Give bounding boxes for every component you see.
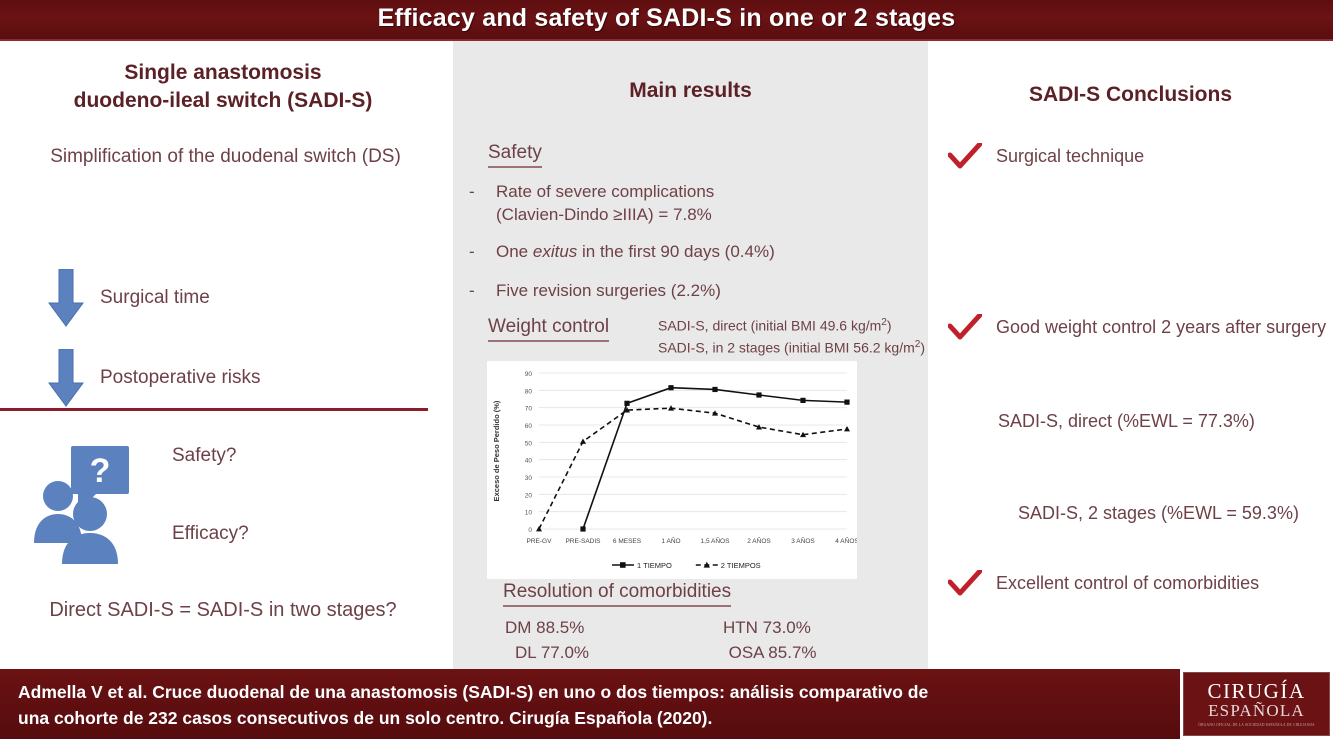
left-column: Single anastomosis duodeno-ileal switch … <box>0 41 453 669</box>
journal-logo-line2: ESPAÑOLA <box>1208 702 1305 721</box>
middle-column: Main results Safety - Rate of severe com… <box>453 41 928 669</box>
bmi-note-direct-post: ) <box>887 318 892 334</box>
check-icon <box>948 570 982 596</box>
svg-text:1 AÑO: 1 AÑO <box>661 536 680 545</box>
comorbidities-grid: DM 88.5% HTN 73.0% DL 77.0% OSA 85.7% <box>505 616 905 665</box>
safety-bullet-1-line2: (Clavien-Dindo ≥IIIA) = 7.8% <box>496 204 796 227</box>
check-icon <box>948 314 982 340</box>
svg-text:3 AÑOS: 3 AÑOS <box>791 536 815 545</box>
conclusion-label-comorbidities: Excellent control of comorbidities <box>996 573 1259 594</box>
safety-bullet-2-post: in the first 90 days (0.4%) <box>577 242 774 261</box>
svg-text:50: 50 <box>525 440 533 447</box>
conclusion-weight-control: Good weight control 2 years after surger… <box>948 317 1326 340</box>
safety-bullet-1: - Rate of severe complications (Clavien-… <box>496 181 796 227</box>
safety-bullet-3: - Five revision surgeries (2.2%) <box>496 280 826 303</box>
svg-text:1 TIEMPO: 1 TIEMPO <box>637 561 672 570</box>
svg-text:1,5 AÑOS: 1,5 AÑOS <box>701 536 731 545</box>
svg-text:30: 30 <box>525 475 533 482</box>
bmi-note-direct: SADI-S, direct (initial BMI 49.6 kg/m2) <box>658 315 925 337</box>
bmi-note-two-stages-post: ) <box>920 340 925 356</box>
left-column-heading: Single anastomosis duodeno-ileal switch … <box>8 59 438 116</box>
safety-bullet-3-line1: Five revision surgeries (2.2%) <box>496 281 721 300</box>
svg-text:2 AÑOS: 2 AÑOS <box>747 536 771 545</box>
bullet-dash: - <box>469 241 475 264</box>
conclusion-note-two-stages: SADI-S, 2 stages (%EWL = 59.3%) <box>1018 503 1299 524</box>
svg-text:0: 0 <box>528 527 532 534</box>
footer-citation-line1: Admella V et al. Cruce duodenal de una a… <box>18 679 1163 705</box>
right-column: SADI-S Conclusions Surgical technique Go… <box>928 41 1333 669</box>
svg-text:20: 20 <box>525 492 533 499</box>
people-question-icon: ? <box>30 446 140 564</box>
middle-column-heading: Main results <box>453 79 928 103</box>
svg-text:40: 40 <box>525 458 533 465</box>
bmi-notes: SADI-S, direct (initial BMI 49.6 kg/m2) … <box>658 315 925 360</box>
weight-control-chart: 0102030405060708090Exceso de Peso Perdid… <box>487 361 857 579</box>
svg-text:90: 90 <box>525 371 533 378</box>
comorbidity-dm: DM 88.5% <box>505 616 723 641</box>
footer-citation: Admella V et al. Cruce duodenal de una a… <box>18 679 1163 732</box>
svg-text:6 MESES: 6 MESES <box>613 538 642 545</box>
section-label-weight-control: Weight control <box>488 316 609 342</box>
svg-text:?: ? <box>90 452 111 490</box>
svg-text:4 AÑOS: 4 AÑOS <box>835 536 857 545</box>
left-heading-line1: Single anastomosis <box>8 59 438 87</box>
safety-bullet-2-emphasis: exitus <box>533 242 577 261</box>
left-heading-line2: duodeno-ileal switch (SADI-S) <box>8 87 438 115</box>
bullet-dash: - <box>469 280 475 303</box>
conclusion-surgical-technique: Surgical technique <box>948 146 1144 169</box>
footer-citation-bar: Admella V et al. Cruce duodenal de una a… <box>0 669 1180 739</box>
svg-text:PRE-GV: PRE-GV <box>527 538 553 545</box>
check-icon <box>948 143 982 169</box>
svg-text:2 TIEMPOS: 2 TIEMPOS <box>721 561 761 570</box>
bmi-note-two-stages: SADI-S, in 2 stages (initial BMI 56.2 kg… <box>658 337 925 359</box>
bmi-note-two-stages-pre: SADI-S, in 2 stages (initial BMI 56.2 kg… <box>658 340 915 356</box>
comorbidity-osa: OSA 85.7% <box>729 641 905 666</box>
question-efficacy: Efficacy? <box>172 523 249 545</box>
left-closing-question: Direct SADI-S = SADI-S in two stages? <box>8 599 438 622</box>
journal-logo: CIRUGÍA ESPAÑOLA ÓRGANO OFICIAL DE LA SO… <box>1180 669 1333 739</box>
svg-text:PRE-SADIS: PRE-SADIS <box>565 538 601 545</box>
comorbidity-row: DM 88.5% HTN 73.0% <box>505 616 905 641</box>
benefit-label-postoperative-risks: Postoperative risks <box>100 367 261 389</box>
bmi-note-direct-pre: SADI-S, direct (initial BMI 49.6 kg/m <box>658 318 881 334</box>
comorbidity-htn: HTN 73.0% <box>723 616 903 641</box>
svg-text:Exceso de Peso Perdido (%): Exceso de Peso Perdido (%) <box>492 400 501 501</box>
down-arrow-icon <box>48 349 84 407</box>
safety-bullet-2: - One exitus in the first 90 days (0.4%) <box>496 241 826 264</box>
journal-logo-tagline: ÓRGANO OFICIAL DE LA SOCIEDAD ESPAÑOLA D… <box>1198 723 1314 727</box>
journal-logo-line1: CIRUGÍA <box>1208 681 1306 702</box>
svg-text:70: 70 <box>525 406 533 413</box>
conclusion-label-weight-control: Good weight control 2 years after surger… <box>996 317 1326 338</box>
svg-text:80: 80 <box>525 388 533 395</box>
conclusion-comorbidities: Excellent control of comorbidities <box>948 573 1259 596</box>
down-arrow-icon <box>48 269 84 327</box>
footer-citation-line2: una cohorte de 232 casos consecutivos de… <box>18 705 1163 731</box>
bullet-dash: - <box>469 181 475 204</box>
left-column-divider <box>0 408 428 411</box>
question-safety: Safety? <box>172 445 236 467</box>
safety-bullet-1-line1: Rate of severe complications <box>496 181 796 204</box>
svg-text:60: 60 <box>525 423 533 430</box>
benefit-row-postoperative-risks: Postoperative risks <box>48 349 261 407</box>
comorbidity-dl: DL 77.0% <box>505 641 729 666</box>
section-label-comorbidities: Resolution of comorbidities <box>503 581 731 607</box>
title-bar: Efficacy and safety of SADI-S in one or … <box>0 0 1333 41</box>
benefit-row-surgical-time: Surgical time <box>48 269 210 327</box>
page-title: Efficacy and safety of SADI-S in one or … <box>0 4 1333 33</box>
right-column-heading: SADI-S Conclusions <box>928 83 1333 107</box>
conclusion-label-surgical-technique: Surgical technique <box>996 146 1144 167</box>
section-label-safety: Safety <box>488 142 542 168</box>
safety-bullet-2-pre: One <box>496 242 533 261</box>
chart-svg: 0102030405060708090Exceso de Peso Perdid… <box>487 361 857 579</box>
left-column-subtitle: Simplification of the duodenal switch (D… <box>8 146 443 168</box>
comorbidity-row: DL 77.0% OSA 85.7% <box>505 641 905 666</box>
svg-text:10: 10 <box>525 510 533 517</box>
conclusion-note-direct: SADI-S, direct (%EWL = 77.3%) <box>998 411 1255 432</box>
benefit-label-surgical-time: Surgical time <box>100 287 210 309</box>
